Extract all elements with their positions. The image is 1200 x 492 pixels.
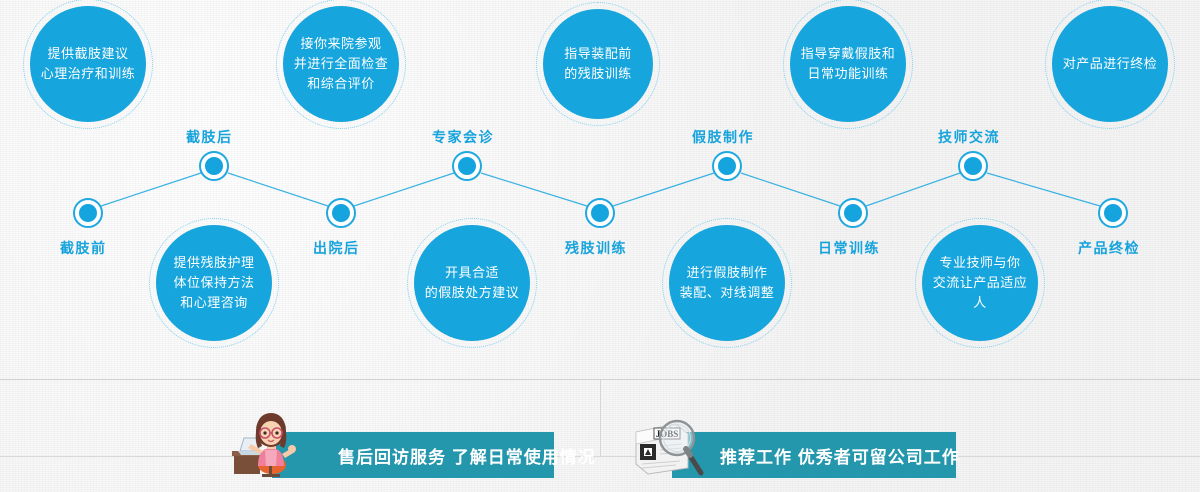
bubble-post-amputation[interactable]: 提供残肢护理 体位保持方法 和心理咨询 xyxy=(156,225,272,341)
bubble-residual-training[interactable]: 指导装配前 的残肢训练 xyxy=(543,9,653,119)
connector-drop-line xyxy=(600,380,601,456)
bubble-final-inspection[interactable]: 对产品进行终检 xyxy=(1052,6,1168,122)
timeline-node-label-technician-exchange: 技师交流 xyxy=(938,127,1000,147)
timeline-node-label-residual-training: 残肢训练 xyxy=(565,238,627,258)
infographic-canvas: 提供截肢建议 心理治疗和训练提供残肢护理 体位保持方法 和心理咨询接你来院参观 … xyxy=(0,0,1200,492)
timeline-node-post-discharge[interactable] xyxy=(326,198,356,228)
banner-aftersales[interactable]: 售后回访服务 了解日常使用情况 xyxy=(272,432,554,478)
bubble-label: 开具合适 的假肢处方建议 xyxy=(419,263,526,303)
banner-baseline-rule xyxy=(0,456,1200,457)
bubble-label: 指导装配前 的残肢训练 xyxy=(558,44,638,84)
support-agent-icon xyxy=(232,410,298,480)
timeline-node-prosthesis-making[interactable] xyxy=(712,151,742,181)
bubble-label: 对产品进行终检 xyxy=(1057,54,1164,74)
timeline-node-technician-exchange[interactable] xyxy=(958,151,988,181)
bubble-technician-exchange[interactable]: 专业技师与你 交流让产品适应人 xyxy=(922,225,1038,341)
timeline-node-expert-consult[interactable] xyxy=(452,151,482,181)
bubble-post-discharge[interactable]: 接你来院参观 并进行全面检查 和综合评价 xyxy=(283,6,399,122)
bubble-label: 专业技师与你 交流让产品适应人 xyxy=(922,253,1038,313)
banner-jobs-label: 推荐工作 优秀者可留公司工作 xyxy=(720,443,960,468)
timeline-node-pre-amputation[interactable] xyxy=(73,198,103,228)
timeline-node-label-post-amputation: 截肢后 xyxy=(186,127,233,147)
bubble-label: 接你来院参观 并进行全面检查 和综合评价 xyxy=(288,34,395,94)
timeline-node-label-pre-amputation: 截肢前 xyxy=(60,238,107,258)
job-search-icon: JOBS xyxy=(632,416,704,480)
timeline-node-label-post-discharge: 出院后 xyxy=(313,238,360,258)
bubble-label: 提供残肢护理 体位保持方法 和心理咨询 xyxy=(167,253,260,313)
bubble-label: 指导穿戴假肢和 日常功能训练 xyxy=(795,44,902,84)
banner-aftersales-label: 售后回访服务 了解日常使用情况 xyxy=(338,443,596,468)
bubble-label: 提供截肢建议 心理治疗和训练 xyxy=(35,44,142,84)
timeline-node-residual-training[interactable] xyxy=(585,198,615,228)
timeline-node-label-expert-consult: 专家会诊 xyxy=(432,127,494,147)
bubble-label: 进行假肢制作 装配、对线调整 xyxy=(674,263,781,303)
timeline-node-final-inspection[interactable] xyxy=(1098,198,1128,228)
timeline-node-label-final-inspection: 产品终检 xyxy=(1078,238,1140,258)
bubble-daily-training[interactable]: 指导穿戴假肢和 日常功能训练 xyxy=(790,6,906,122)
timeline-node-daily-training[interactable] xyxy=(838,198,868,228)
bubble-prosthesis-making[interactable]: 进行假肢制作 装配、对线调整 xyxy=(669,225,785,341)
timeline-section: 提供截肢建议 心理治疗和训练提供残肢护理 体位保持方法 和心理咨询接你来院参观 … xyxy=(0,0,1200,380)
timeline-node-post-amputation[interactable] xyxy=(199,151,229,181)
timeline-node-label-prosthesis-making: 假肢制作 xyxy=(692,127,754,147)
banner-jobs[interactable]: 推荐工作 优秀者可留公司工作 xyxy=(672,432,956,478)
bubble-pre-amputation[interactable]: 提供截肢建议 心理治疗和训练 xyxy=(30,6,146,122)
timeline-node-label-daily-training: 日常训练 xyxy=(818,238,880,258)
bubble-expert-consult[interactable]: 开具合适 的假肢处方建议 xyxy=(414,225,530,341)
